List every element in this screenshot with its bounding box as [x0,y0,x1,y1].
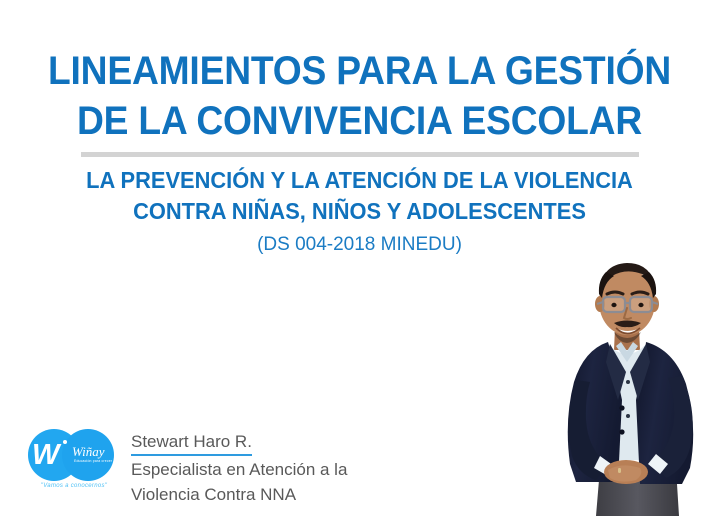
subtitle-block: LA PREVENCIÓN Y LA ATENCIÓN DE LA VIOLEN… [0,165,719,259]
subtitle-line-2: CONTRA NIÑAS, NIÑOS Y ADOLESCENTES [18,196,701,227]
photo-shirt-button-1 [626,380,630,384]
photo-hand-upper [608,465,641,481]
subtitle-line-1: LA PREVENCIÓN Y LA ATENCIÓN DE LA VIOLEN… [18,165,701,196]
photo-blazer-button-2 [619,429,624,434]
logo-i-dot-icon [63,440,67,444]
presentation-slide: LINEAMIENTOS PARA LA GESTIÓN DE LA CONVI… [0,0,719,516]
photo-eye-right [638,303,643,307]
logo-brand-name: Wiñay [72,445,105,458]
logo-tagline: "Vamos a conocernos" [24,482,124,490]
logo-brand-subtitle: Educación para crecer [74,459,112,463]
presenter-role-line-1: Especialista en Atención a la [131,458,431,481]
photo-ring [618,468,621,473]
photo-shirt-button-2 [626,414,630,418]
photo-blazer-button-1 [619,405,624,410]
photo-eye-left [611,303,616,307]
logo-circles: W Wiñay Educación para crecer [18,429,126,481]
presenter-photo-illustration [556,250,719,516]
presenter-block: Stewart Haro R. Especialista en Atención… [131,431,431,506]
title-divider [81,152,639,157]
presenter-role-line-2: Violencia Contra NNA [131,483,431,506]
title-line-1: LINEAMIENTOS PARA LA GESTIÓN [25,46,694,96]
presenter-name: Stewart Haro R. [131,431,252,456]
winay-logo: W Wiñay Educación para crecer "Vamos a c… [18,429,126,499]
presenter-photo [556,250,719,516]
title-block: LINEAMIENTOS PARA LA GESTIÓN DE LA CONVI… [0,46,719,157]
logo-monogram: W [32,441,58,470]
title-line-2: DE LA CONVIVENCIA ESCOLAR [25,96,694,146]
